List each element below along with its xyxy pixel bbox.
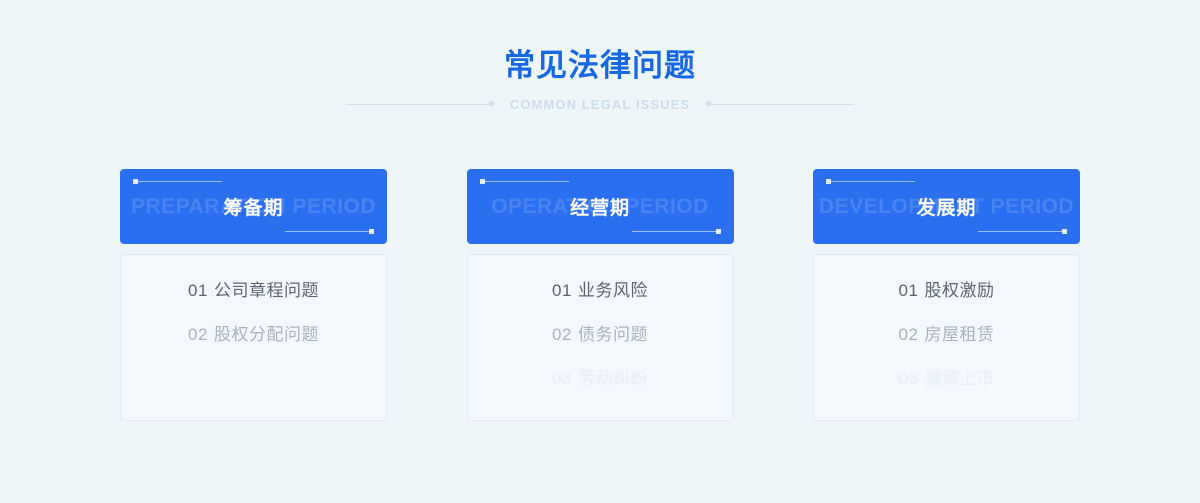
line-end-dot-icon (716, 229, 721, 234)
stage-title: 筹备期 (120, 169, 387, 244)
list-item-number: 01 (899, 281, 919, 300)
list-item-label: 房屋租赁 (924, 325, 994, 344)
list-item[interactable]: 02股权分配问题 (121, 324, 386, 346)
list-item-label: 公司章程问题 (214, 281, 319, 300)
list-item[interactable]: 01业务风险 (468, 280, 733, 302)
list-item-number: 02 (552, 325, 572, 344)
list-item-number: 03 (899, 369, 919, 388)
list-item-number: 01 (552, 281, 572, 300)
decorative-line-bottom (285, 231, 373, 232)
stage-card[interactable]: OPERATION PERIOD 经营期 01业务风险 02债务问题 03劳动纠… (467, 169, 734, 421)
decorative-line-bottom (632, 231, 720, 232)
section-header: 常见法律问题 COMMON LEGAL ISSUES (0, 44, 1200, 114)
diamond-dot-icon (705, 100, 712, 107)
list-item[interactable]: 02房屋租赁 (814, 324, 1079, 346)
list-item-number: 03 (552, 369, 572, 388)
list-item-label: 劳动纠纷 (578, 369, 648, 388)
stage-card-body: 01业务风险 02债务问题 03劳动纠纷 (467, 254, 734, 421)
stage-title: 发展期 (813, 169, 1080, 244)
page-subtitle: COMMON LEGAL ISSUES (494, 96, 706, 114)
list-item-label: 业务风险 (578, 281, 648, 300)
diamond-dot-icon (488, 100, 495, 107)
stage-card-body: 01股权激励 02房屋租赁 03融资上市 (813, 254, 1080, 421)
stage-card-header[interactable]: OPERATION PERIOD 经营期 (467, 169, 734, 244)
decorative-line-bottom (978, 231, 1066, 232)
stage-title: 经营期 (467, 169, 734, 244)
stage-card-header[interactable]: PREPARATION PERIOD 筹备期 (120, 169, 387, 244)
list-item-number: 02 (188, 325, 208, 344)
list-item-number: 02 (899, 325, 919, 344)
list-item[interactable]: 03融资上市 (814, 368, 1079, 390)
list-item[interactable]: 01股权激励 (814, 280, 1079, 302)
line-end-dot-icon (1062, 229, 1067, 234)
subtitle-rule-right (706, 96, 854, 114)
list-item[interactable]: 03劳动纠纷 (468, 368, 733, 390)
stage-card-body: 01公司章程问题 02股权分配问题 (120, 254, 387, 421)
list-item[interactable]: 02债务问题 (468, 324, 733, 346)
subtitle-rule-left (346, 96, 494, 114)
line-end-dot-icon (369, 229, 374, 234)
page-title: 常见法律问题 (0, 44, 1200, 88)
list-item-label: 债务问题 (578, 325, 648, 344)
page-root: 常见法律问题 COMMON LEGAL ISSUES PREPARATION P… (0, 0, 1200, 503)
card-list: PREPARATION PERIOD 筹备期 01公司章程问题 02股权分配问题 (120, 169, 1080, 421)
list-item-label: 股权分配问题 (214, 325, 319, 344)
list-item-label: 股权激励 (924, 281, 994, 300)
stage-card[interactable]: DEVELOPMENT PERIOD 发展期 01股权激励 02房屋租赁 03融… (813, 169, 1080, 421)
list-item-number: 01 (188, 281, 208, 300)
list-item-label: 融资上市 (924, 369, 994, 388)
subtitle-row: COMMON LEGAL ISSUES (0, 96, 1200, 114)
stage-card-header[interactable]: DEVELOPMENT PERIOD 发展期 (813, 169, 1080, 244)
list-item[interactable]: 01公司章程问题 (121, 280, 386, 302)
list-item[interactable] (121, 368, 386, 390)
stage-card[interactable]: PREPARATION PERIOD 筹备期 01公司章程问题 02股权分配问题 (120, 169, 387, 421)
